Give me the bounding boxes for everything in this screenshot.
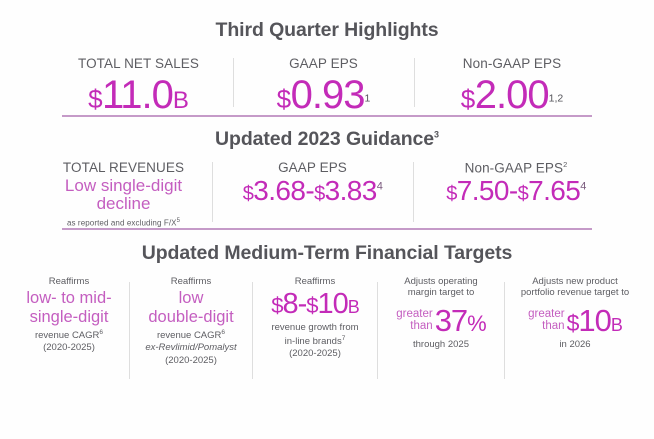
value-number: 37 [435, 303, 467, 338]
footnote-marker: 7 [342, 335, 346, 342]
guidance-label-gaap-eps: GAAP EPS [223, 160, 403, 175]
range-dash: - [298, 288, 307, 320]
value-high: 10 [318, 288, 348, 320]
medium-term-targets-section: Updated Medium-Term Financial Targets Re… [0, 230, 654, 381]
currency-symbol: $ [271, 293, 282, 318]
value-low: 7.50 [457, 175, 509, 206]
target-footnote-text: revenue CAGR [35, 330, 99, 341]
target-lead-line-2: portfolio revenue target to [512, 287, 638, 299]
target-footnote-text: revenue CAGR [157, 330, 221, 341]
greater-than-number: 37% [435, 305, 486, 336]
target-headline: low double-digit [137, 289, 245, 325]
target-low-double-digit: Reaffirms low double-digit revenue CAGR6… [130, 276, 252, 381]
currency-symbol: $ [314, 183, 325, 205]
target-footnote-line-1: revenue growth from [260, 322, 370, 334]
guidance-label-total-revenues: TOTAL REVENUES [46, 160, 202, 175]
metric-value-total-net-sales: $11.0B [55, 75, 223, 115]
target-lead: Adjusts new product portfolio revenue ta… [512, 276, 638, 300]
footnote-marker: 4 [580, 181, 586, 193]
target-lead: Reaffirms [260, 276, 370, 288]
section-title-medium-term: Updated Medium-Term Financial Targets [0, 242, 654, 265]
value-unit: B [348, 297, 359, 317]
range-dash: - [509, 175, 518, 206]
metric-label-non-gaap-eps: Non-GAAP EPS [425, 56, 600, 71]
greater-than-words: greater than [528, 309, 564, 332]
target-footnote-line-3: (2020-2025) [260, 348, 370, 360]
target-footnote-emphasis: ex-Revlimid/Pomalyst [145, 342, 236, 353]
target-headline-line-2: single-digit [16, 308, 122, 326]
target-lead-line-1: Adjusts operating [385, 276, 497, 288]
third-quarter-highlights-section: Third Quarter Highlights TOTAL NET SALES… [0, 0, 654, 115]
metric-label-total-net-sales: TOTAL NET SALES [55, 56, 223, 71]
greater-than-words: greater than [396, 309, 432, 332]
section-title-quarter-highlights-text: Third Quarter Highlights [216, 19, 439, 41]
metric-non-gaap-eps: Non-GAAP EPS $2.001,2 [415, 54, 610, 115]
guidance-value-non-gaap-eps: $7.50-$7.654 [424, 177, 609, 205]
guidance-total-revenues: TOTAL REVENUES Low single-digit decline … [36, 160, 212, 228]
value-number: 0.93 [291, 73, 365, 117]
footnote-marker: 4 [377, 180, 383, 192]
greater-than-number: $10B [567, 305, 622, 336]
target-greater-than-value: greater than 37% [385, 305, 497, 336]
currency-symbol: $ [88, 84, 102, 114]
value-high: 7.65 [528, 175, 580, 206]
target-footnote-line-2: ex-Revlimid/Pomalyst [137, 342, 245, 354]
target-footnote-line-3: (2020-2025) [137, 355, 245, 367]
target-footnote: revenue growth from in-line brands7 (202… [260, 322, 370, 360]
than-word: than [528, 321, 564, 333]
currency-symbol: $ [446, 183, 457, 205]
footnote-marker: 6 [221, 329, 225, 336]
target-new-product-portfolio-revenue: Adjusts new product portfolio revenue ta… [505, 276, 645, 381]
target-footnote-line-1: in 2026 [512, 339, 638, 351]
target-footnote-line-1: revenue CAGR6 [16, 329, 122, 343]
target-lead: Reaffirms [16, 276, 122, 288]
target-lead-line-1: Adjusts new product [512, 276, 638, 288]
medium-term-columns-row: Reaffirms low- to mid- single-digit reve… [0, 276, 654, 381]
metric-value-gaap-eps: $0.931 [244, 75, 404, 115]
guidance-gaap-eps: GAAP EPS $3.68-$3.834 [213, 160, 413, 228]
value-number: 2.00 [475, 73, 549, 117]
range-dash: - [305, 175, 314, 206]
guidance-label-non-gaap-eps-text: Non-GAAP EPS [465, 160, 564, 175]
guidance-label-non-gaap-eps: Non-GAAP EPS2 [424, 160, 609, 176]
value-low: 3.68 [253, 175, 305, 206]
infographic-page: Third Quarter Highlights TOTAL NET SALES… [0, 0, 654, 439]
target-footnote-line-1: revenue CAGR6 [137, 329, 245, 343]
guidance-non-gaap-eps: Non-GAAP EPS2 $7.50-$7.654 [414, 160, 619, 228]
currency-symbol: $ [567, 310, 579, 336]
target-headline: low- to mid- single-digit [16, 289, 122, 325]
currency-symbol: $ [243, 183, 254, 205]
currency-symbol: $ [518, 183, 529, 205]
metric-total-net-sales: TOTAL NET SALES $11.0B [45, 54, 233, 115]
target-money-range: $8-$10B [260, 290, 370, 319]
target-footnote: through 2025 [385, 339, 497, 351]
section-title-guidance-footnote: 3 [434, 129, 439, 139]
currency-symbol: $ [306, 293, 317, 318]
section-title-guidance-text: Updated 2023 Guidance [215, 128, 434, 150]
metric-gaap-eps: GAAP EPS $0.931 [234, 54, 414, 115]
value-number: 10 [578, 303, 610, 338]
target-footnote: revenue CAGR6 ex-Revlimid/Pomalyst (2020… [137, 329, 245, 367]
value-high: 3.83 [325, 175, 377, 206]
metric-value-non-gaap-eps: $2.001,2 [425, 75, 600, 115]
target-footnote-text: in-line brands [285, 336, 342, 347]
target-footnote-line-2: in-line brands7 [260, 335, 370, 349]
quarter-metrics-row: TOTAL NET SALES $11.0B GAAP EPS $0.931 N… [0, 54, 654, 115]
than-word: than [396, 321, 432, 333]
target-revenue-growth-in-line-brands: Reaffirms $8-$10B revenue growth from in… [253, 276, 377, 381]
guidance-value-total-revenues: Low single-digit decline [46, 177, 202, 214]
value-unit: % [467, 311, 486, 336]
target-headline-line-2: double-digit [137, 308, 245, 326]
guidance-revenues-note: as reported and excluding F/X5 [46, 218, 202, 228]
footnote-marker: 2 [563, 160, 567, 169]
target-footnote-line-3: (2020-2025) [16, 342, 122, 354]
value-low: 8 [282, 288, 297, 320]
footnote-marker: 1,2 [549, 93, 564, 105]
metric-label-gaap-eps: GAAP EPS [244, 56, 404, 71]
currency-symbol: $ [461, 84, 475, 114]
footnote-marker: 6 [99, 329, 103, 336]
value-unit: B [611, 315, 622, 335]
target-low-to-mid-single-digit: Reaffirms low- to mid- single-digit reve… [9, 276, 129, 381]
target-headline-line-1: low- to mid- [16, 289, 122, 307]
target-lead: Reaffirms [137, 276, 245, 288]
target-lead-line-2: margin target to [385, 287, 497, 299]
guidance-value-line-1: Low single-digit [46, 177, 202, 195]
guidance-value-line-2: decline [46, 195, 202, 213]
value-number: 11.0 [102, 73, 173, 117]
section-title-guidance: Updated 2023 Guidance3 [0, 128, 654, 151]
guidance-value-gaap-eps: $3.68-$3.834 [223, 177, 403, 205]
value-unit: B [173, 87, 189, 114]
guidance-section: Updated 2023 Guidance3 TOTAL REVENUES Lo… [0, 117, 654, 228]
target-footnote-line-1: through 2025 [385, 339, 497, 351]
currency-symbol: $ [277, 84, 291, 114]
target-greater-than-value: greater than $10B [512, 305, 638, 336]
guidance-metrics-row: TOTAL REVENUES Low single-digit decline … [0, 160, 654, 228]
target-operating-margin: Adjusts operating margin target to great… [378, 276, 504, 381]
guidance-revenues-note-text: as reported and excluding F/X [67, 219, 177, 228]
section-title-medium-term-text: Updated Medium-Term Financial Targets [142, 242, 512, 264]
footnote-marker: 5 [177, 218, 180, 224]
target-headline-line-1: low [137, 289, 245, 307]
target-footnote: revenue CAGR6 (2020-2025) [16, 329, 122, 355]
target-footnote: in 2026 [512, 339, 638, 351]
footnote-marker: 1 [364, 93, 370, 105]
section-title-quarter-highlights: Third Quarter Highlights [0, 19, 654, 42]
target-lead: Adjusts operating margin target to [385, 276, 497, 300]
